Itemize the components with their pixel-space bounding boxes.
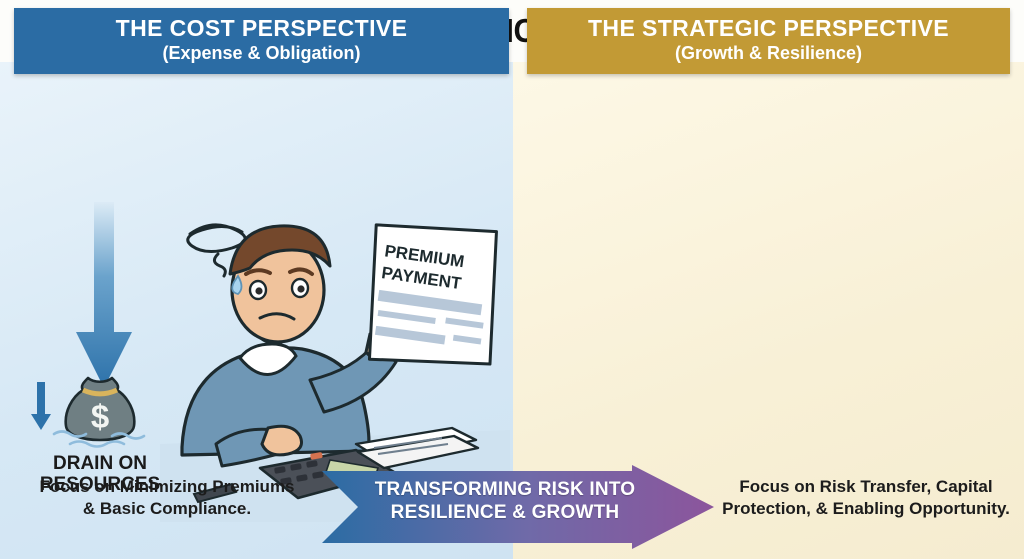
- bottom-summary-band: Focus on Minimizing Premiums & Basic Com…: [0, 462, 1024, 559]
- svg-text:$: $: [91, 398, 109, 435]
- caption-right-line-2: Protection, & Enabling Opportunity.: [716, 498, 1016, 520]
- arrow-label-line-1: TRANSFORMING RISK INTO: [345, 479, 665, 502]
- caption-left-line-1: Focus on Minimizing Premiums: [12, 476, 322, 498]
- banner-right-subtitle: (Growth & Resilience): [527, 43, 1010, 64]
- caption-right-line-1: Focus on Risk Transfer, Capital: [716, 476, 1016, 498]
- banner-right-title: THE STRATEGIC PERSPECTIVE: [527, 15, 1010, 42]
- banner-cost-perspective: THE COST PERSPECTIVE (Expense & Obligati…: [14, 8, 509, 74]
- down-arrow-icon: [72, 202, 136, 392]
- caption-left-line-2: & Basic Compliance.: [12, 498, 322, 520]
- banner-left-title: THE COST PERSPECTIVE: [14, 15, 509, 42]
- banner-left-subtitle: (Expense & Obligation): [14, 43, 509, 64]
- money-bag-icon: $: [50, 372, 150, 452]
- caption-strategic-focus: Focus on Risk Transfer, Capital Protecti…: [716, 476, 1016, 520]
- small-down-arrow-icon: [30, 382, 52, 432]
- banner-strategic-perspective: THE STRATEGIC PERSPECTIVE (Growth & Resi…: [527, 8, 1010, 74]
- transformation-arrow-label: TRANSFORMING RISK INTO RESILIENCE & GROW…: [345, 479, 665, 525]
- caption-cost-focus: Focus on Minimizing Premiums & Basic Com…: [12, 476, 322, 520]
- arrow-label-line-2: RESILIENCE & GROWTH: [345, 502, 665, 525]
- infographic-canvas: INSURANCE AS A STRATEGIC ASSET, NOT JUST…: [0, 0, 1024, 559]
